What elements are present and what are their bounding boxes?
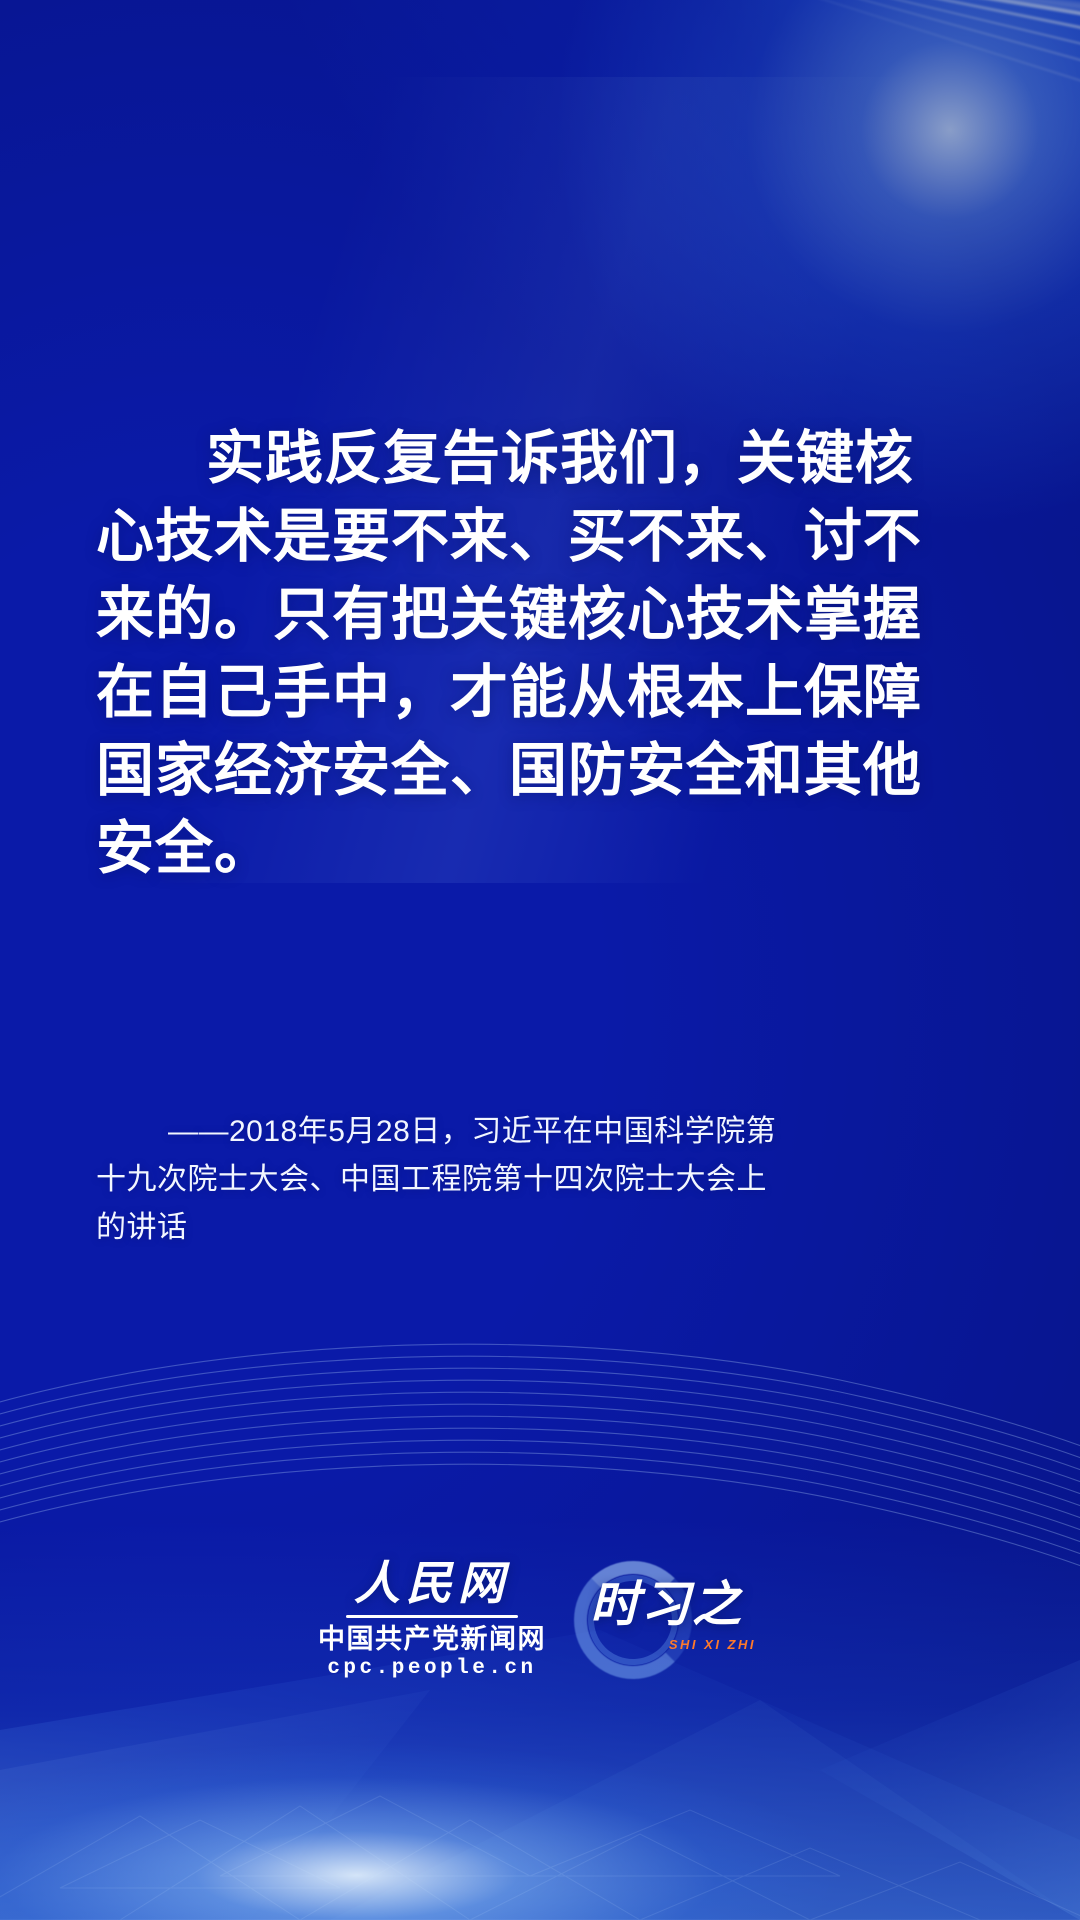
quote-line: 国家经济安全、国防安全和其他 [96, 732, 796, 810]
attribution-line: 十九次院士大会、中国工程院第十四次院士大会上 [96, 1156, 802, 1204]
wave-lines-decoration [0, 1230, 1080, 1590]
light-ray-decoration [3, 0, 1080, 37]
people-cn-brand: 人民网 [354, 1558, 510, 1610]
quote-line: 在自己手中，才能从根本上保障 [96, 654, 796, 732]
shixizhi-pinyin: SHI XI ZHI [669, 1637, 756, 1652]
quote-line: 安全。 [96, 810, 796, 888]
light-ray-decoration [31, 0, 1080, 54]
light-ray-decoration [79, 0, 1080, 72]
people-cn-subtitle: 中国共产党新闻网 [318, 1623, 546, 1655]
attribution-block: ——2018年5月28日，习近平在中国科学院第 十九次院士大会、中国工程院第十四… [96, 1108, 802, 1252]
footer-logo-row: 人民网 中国共产党新闻网 cpc.people.cn 时习之 SHI XI ZH… [0, 1540, 1080, 1700]
people-cn-logo[interactable]: 人民网 中国共产党新闻网 cpc.people.cn [318, 1558, 546, 1683]
shixizhi-title: 时习之 [590, 1577, 743, 1633]
quote-line: 心技术是要不来、买不来、讨不 [96, 498, 796, 576]
quote-line: 来的。只有把关键核心技术掌握 [96, 576, 796, 654]
light-ray-decoration [0, 0, 1080, 14]
logo-divider-rule [346, 1615, 518, 1618]
shixizhi-logo[interactable]: 时习之 SHI XI ZHI [572, 1555, 762, 1685]
quote-poster: 实践反复告诉我们，关键核 心技术是要不来、买不来、讨不 来的。只有把关键核心技术… [0, 0, 1080, 1920]
quote-text-block: 实践反复告诉我们，关键核 心技术是要不来、买不来、讨不 来的。只有把关键核心技术… [96, 420, 796, 888]
attribution-line: 的讲话 [96, 1204, 802, 1252]
people-cn-url: cpc.people.cn [327, 1655, 536, 1683]
light-ray-decoration [128, 0, 1080, 94]
attribution-line: ——2018年5月28日，习近平在中国科学院第 [96, 1108, 802, 1156]
light-ray-decoration [0, 0, 1080, 22]
quote-line: 实践反复告诉我们，关键核 [96, 420, 796, 498]
